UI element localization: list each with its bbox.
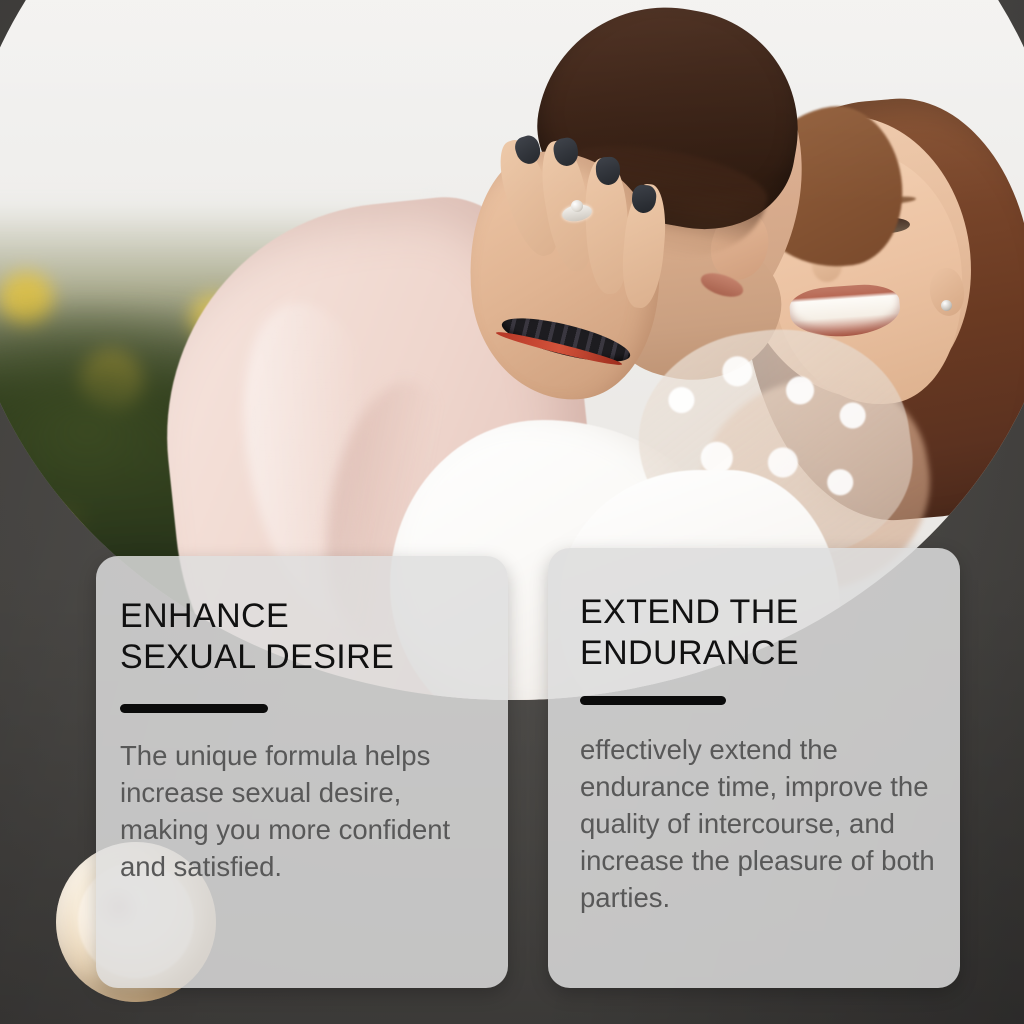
title-underline-rule [120, 704, 268, 713]
benefit-card-enhance-sexual-desire: ENHANCE SEXUAL DESIRE The unique formula… [96, 556, 508, 988]
title-underline-rule [580, 696, 726, 705]
benefit-card-title: ENHANCE SEXUAL DESIRE [120, 596, 482, 678]
benefit-card-extend-the-endurance: EXTEND THE ENDURANCE effectively extend … [548, 548, 960, 988]
earring [941, 300, 952, 311]
promo-canvas: ENHANCE SEXUAL DESIRE The unique formula… [0, 0, 1024, 1024]
benefit-card-body: The unique formula helps increase sexual… [120, 737, 482, 885]
benefit-card-title: EXTEND THE ENDURANCE [580, 592, 938, 674]
benefit-card-body: effectively extend the endurance time, i… [580, 731, 938, 916]
